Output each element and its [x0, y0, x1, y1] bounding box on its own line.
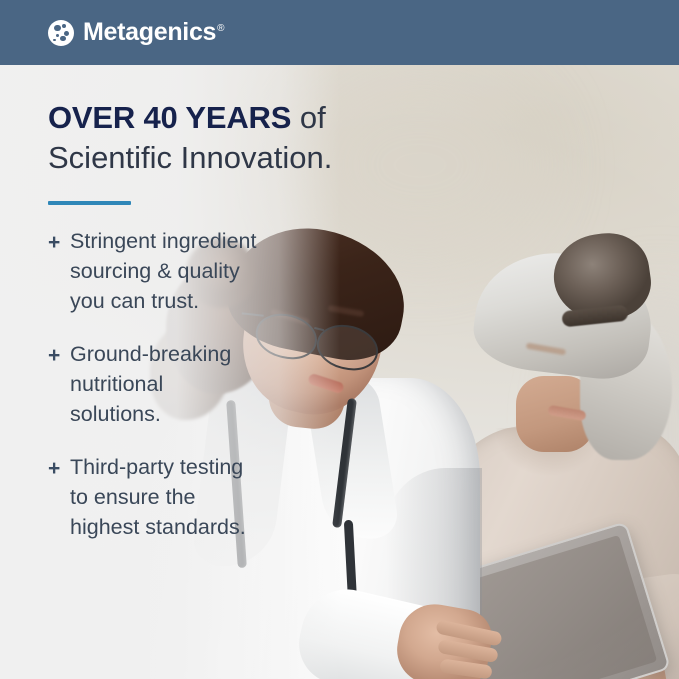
headline-strong: OVER 40 YEARS [48, 100, 291, 135]
accent-divider [48, 201, 131, 205]
list-item: + Third-party testing to ensure the high… [48, 453, 378, 542]
plus-icon: + [48, 228, 70, 258]
list-item: + Ground-breaking nutritional solutions. [48, 340, 378, 429]
header-bar: Metagenics® [0, 0, 679, 65]
list-item: + Stringent ingredient sourcing & qualit… [48, 227, 378, 316]
list-item-label: Third-party testing to ensure the highes… [70, 453, 246, 542]
headline-light: of [291, 100, 325, 135]
brand-lockup: Metagenics® [48, 20, 224, 46]
plus-icon: + [48, 454, 70, 484]
headline-line-two: Scientific Innovation. [48, 140, 332, 175]
plus-icon: + [48, 341, 70, 371]
benefits-list: + Stringent ingredient sourcing & qualit… [48, 227, 378, 542]
page-title: OVER 40 YEARS of Scientific Innovation. [48, 98, 378, 177]
registered-trademark-symbol: ® [217, 23, 224, 34]
metagenics-cell-dots-icon [48, 20, 74, 46]
copy-block: OVER 40 YEARS of Scientific Innovation. … [48, 98, 378, 542]
advertisement-canvas: Metagenics® OVER 40 YEARS of Scientific … [0, 0, 679, 679]
list-item-label: Stringent ingredient sourcing & quality … [70, 227, 256, 316]
brand-name-text: Metagenics [83, 18, 216, 46]
brand-name: Metagenics® [83, 20, 224, 45]
list-item-label: Ground-breaking nutritional solutions. [70, 340, 231, 429]
